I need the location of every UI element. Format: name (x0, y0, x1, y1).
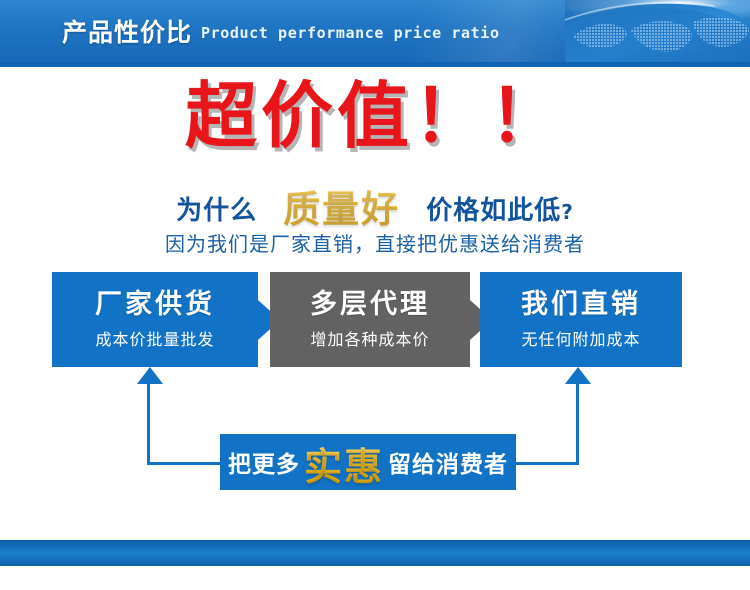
question-part-price: 价格如此低? (426, 190, 574, 227)
bottom-banner-highlight: 实惠 (304, 436, 384, 491)
flow-box-direct-sales: 我们直销 无任何附加成本 (480, 272, 682, 367)
globe-world-map-icon (565, 0, 750, 62)
flow-box-3-title: 我们直销 (521, 289, 641, 320)
footer-bar (0, 540, 750, 566)
header-title: 产品性价比 Product performance price ratio (62, 0, 500, 62)
connector-line-right-vertical (576, 383, 579, 465)
flow-box-1-subtitle: 成本价批量批发 (95, 326, 214, 350)
flow-box-2-subtitle: 增加各种成本价 (310, 326, 429, 350)
question-part-quality: 质量好 (283, 179, 400, 233)
flow-box-2-title: 多层代理 (310, 289, 430, 320)
flow-box-multi-agent: 多层代理 增加各种成本价 (270, 272, 470, 367)
header-banner: 产品性价比 Product performance price ratio (0, 0, 750, 62)
arrow-up-icon-left (137, 367, 163, 384)
header-title-en: Product performance price ratio (201, 24, 500, 42)
flow-box-3-subtitle: 无任何附加成本 (521, 326, 640, 350)
bottom-banner-part3: 留给消费者 (388, 445, 508, 479)
header-title-cn: 产品性价比 (62, 13, 192, 49)
question-part-why: 为什么 (176, 190, 257, 227)
question-price-text: 价格如此低 (426, 196, 561, 226)
bottom-banner-part1: 把更多 (228, 445, 300, 479)
arrow-up-icon-right (565, 367, 591, 384)
question-line: 为什么 质量好 价格如此低? (0, 176, 750, 230)
question-mark: ? (561, 200, 574, 224)
header-underline-divider (0, 62, 750, 67)
page-headline: 超价值！！ (0, 80, 750, 152)
flow-box-factory-supply: 厂家供货 成本价批量批发 (52, 272, 258, 367)
connector-line-left-vertical (147, 383, 150, 465)
bottom-banner: 把更多 实惠 留给消费者 (220, 434, 516, 490)
flow-box-1-title: 厂家供货 (95, 289, 215, 320)
page-subtitle: 因为我们是厂家直销，直接把优惠送给消费者 (0, 228, 750, 257)
